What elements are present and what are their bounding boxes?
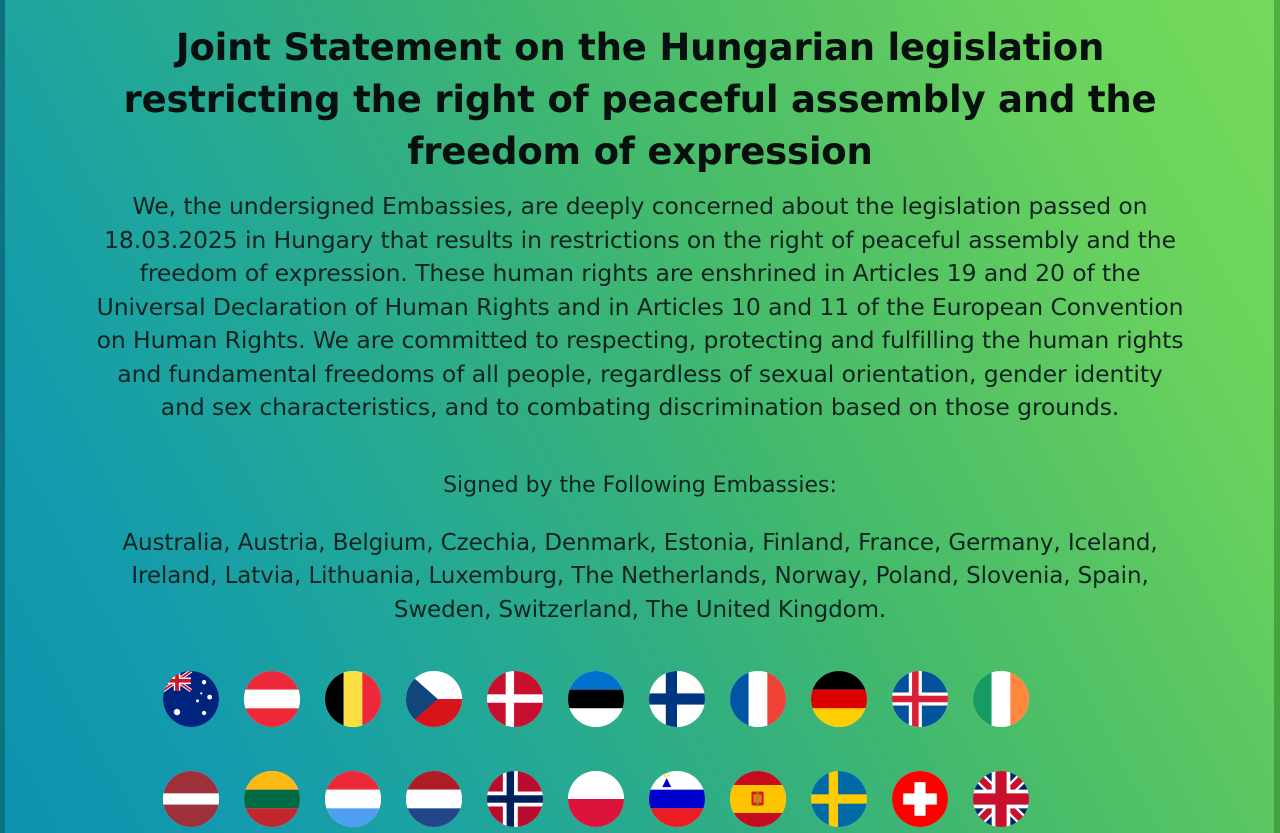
- flag-czechia-icon: [406, 671, 462, 727]
- signed-by-label: Signed by the Following Embassies:: [64, 471, 1216, 501]
- flag-gallery: [0, 649, 1280, 833]
- flag-spain-icon: [730, 771, 786, 827]
- flag-norway-icon: [487, 771, 543, 827]
- page-title: Joint Statement on the Hungarian legisla…: [64, 0, 1216, 178]
- flag-sweden-icon: [811, 771, 867, 827]
- flag-austria-icon: [244, 671, 300, 727]
- poster-content: Joint Statement on the Hungarian legisla…: [0, 0, 1280, 627]
- statement-body: We, the undersigned Embassies, are deepl…: [95, 190, 1185, 425]
- flag-lithuania-icon: [244, 771, 300, 827]
- signatories-list: Australia, Austria, Belgium, Czechia, De…: [110, 527, 1170, 628]
- flag-united-kingdom-icon: [973, 771, 1029, 827]
- flag-luxemburg-icon: [325, 771, 381, 827]
- flag-denmark-icon: [487, 671, 543, 727]
- flag-estonia-icon: [568, 671, 624, 727]
- flag-iceland-icon: [892, 671, 948, 727]
- flag-ireland-icon: [973, 671, 1029, 727]
- flag-row-2: [0, 749, 1280, 833]
- joint-statement-poster: Joint Statement on the Hungarian legisla…: [0, 0, 1280, 833]
- flag-finland-icon: [649, 671, 705, 727]
- flag-switzerland-icon: [892, 771, 948, 827]
- flag-belgium-icon: [325, 671, 381, 727]
- flag-germany-icon: [811, 671, 867, 727]
- flag-row-1: [0, 649, 1280, 749]
- flag-netherlands-icon: [406, 771, 462, 827]
- flag-france-icon: [730, 671, 786, 727]
- flag-poland-icon: [568, 771, 624, 827]
- flag-latvia-icon: [163, 771, 219, 827]
- flag-slovenia-icon: [649, 771, 705, 827]
- flag-australia-icon: [163, 671, 219, 727]
